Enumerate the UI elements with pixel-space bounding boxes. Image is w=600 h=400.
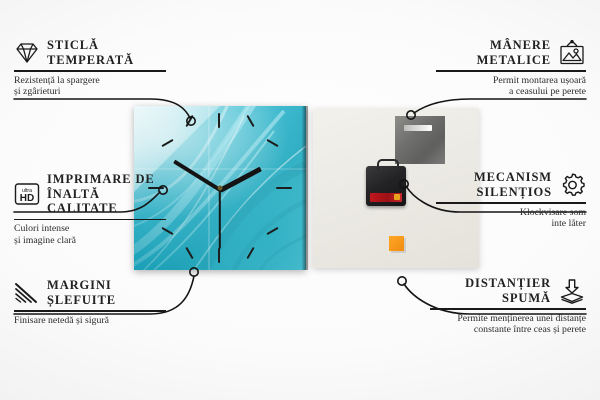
- callout-title-line2: ÎNALTĂ CALITATE: [47, 187, 166, 216]
- callout-foam-spacer: DISTANȚIER SPUMĂ Permite menținerea unei…: [430, 276, 586, 336]
- callout-desc-line1: Rezistență la spargere: [14, 75, 166, 87]
- diamond-icon: [14, 42, 40, 64]
- callout-rule: [430, 308, 586, 310]
- callout-desc-line2: și zgârieturi: [14, 86, 166, 98]
- callout-desc-line2: constante între ceas și perete: [430, 324, 586, 336]
- callout-desc-line2: și imagine clară: [14, 235, 166, 247]
- ultra-hd-big-label: HD: [20, 193, 34, 204]
- callout-rule: [14, 70, 166, 72]
- callout-title-line1: DISTANȚIER: [465, 276, 551, 291]
- callout-title-line1: MECANISM: [474, 170, 552, 185]
- callout-title-line2: SILENȚIOS: [474, 185, 552, 200]
- callout-title-line1: IMPRIMARE DE: [47, 172, 166, 187]
- callout-hd-printing: ultra HD IMPRIMARE DE ÎNALTĂ CALITATE Cu…: [14, 172, 166, 246]
- callout-title-line2: TEMPERATĂ: [47, 53, 134, 68]
- gear-icon: [559, 172, 586, 198]
- callout-title-line2: SPUMĂ: [465, 291, 551, 306]
- callout-desc-line1: Permite menținerea unei distanțe: [430, 313, 586, 325]
- callout-rule: [436, 70, 586, 72]
- callout-rule: [14, 219, 166, 221]
- callout-desc-line1: Permit montarea ușoară: [436, 75, 586, 87]
- press-down-layers-icon: [558, 278, 586, 304]
- callout-title-line1: MÂNERE: [477, 38, 551, 53]
- callout-title-line2: ȘLEFUITE: [47, 293, 116, 308]
- polished-edge-icon: [14, 282, 40, 304]
- picture-hanger-icon: [558, 40, 586, 66]
- callout-title-line1: STICLĂ: [47, 38, 134, 53]
- callout-title-line1: MARGINI: [47, 278, 116, 293]
- callout-desc-line1: Klockvisare som: [436, 207, 586, 219]
- callout-rule: [436, 202, 586, 204]
- callout-silent-mechanism: MECANISM SILENȚIOS Klockvisare som inte …: [436, 170, 586, 230]
- callout-metal-hangers: MÂNERE METALICE Permit montarea ușoară a…: [436, 38, 586, 98]
- callout-polished-edges: MARGINI ȘLEFUITE Finisare netedă și sigu…: [14, 278, 166, 326]
- callout-desc-line2: inte låter: [436, 218, 586, 230]
- callout-rule: [14, 310, 166, 312]
- callout-desc-line1: Finisare netedă și sigură: [14, 315, 166, 327]
- callout-desc-line1: Culori intense: [14, 223, 166, 235]
- ultra-hd-icon: ultra HD: [14, 182, 40, 206]
- callout-title-line2: METALICE: [477, 53, 551, 68]
- callout-desc-line2: a ceasului pe perete: [436, 86, 586, 98]
- callout-tempered-glass: STICLĂ TEMPERATĂ Rezistență la spargere …: [14, 38, 166, 98]
- infographic-canvas: STICLĂ TEMPERATĂ Rezistență la spargere …: [0, 0, 600, 400]
